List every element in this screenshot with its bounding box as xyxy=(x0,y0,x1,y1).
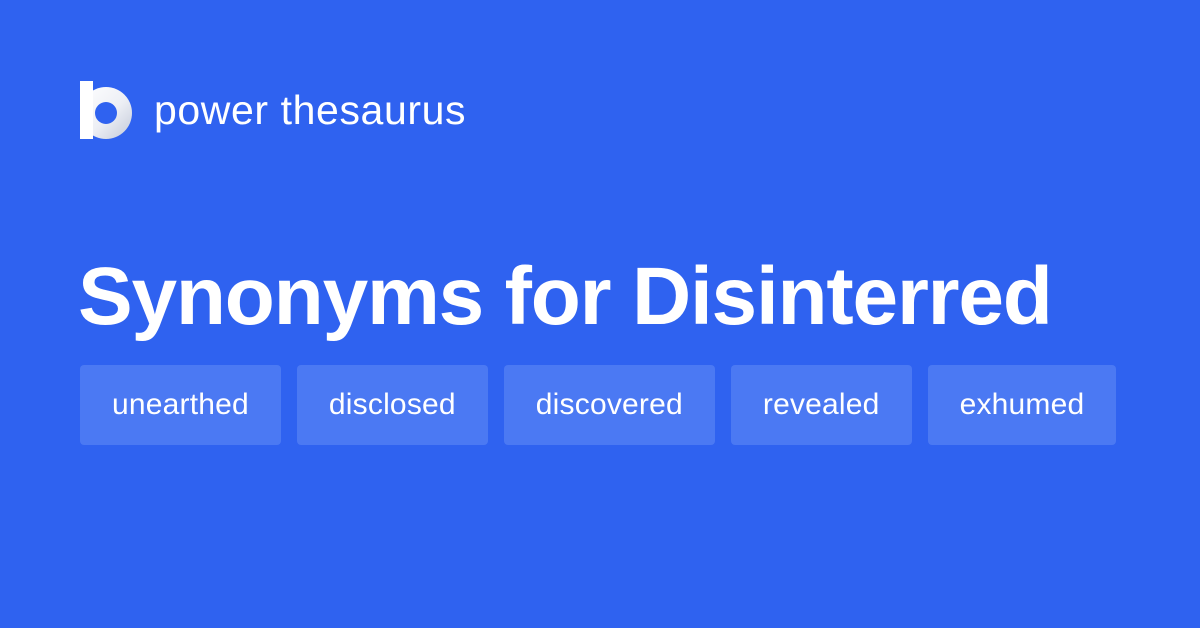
brand-logo[interactable]: power thesaurus xyxy=(80,80,466,140)
power-thesaurus-b-logo-icon xyxy=(80,81,132,139)
synonym-chip[interactable]: disclosed xyxy=(297,365,488,445)
synonym-chip[interactable]: unearthed xyxy=(80,365,281,445)
brand-name: power thesaurus xyxy=(154,90,466,131)
page-title: Synonyms for Disinterred xyxy=(78,251,1138,343)
share-card: power thesaurus Synonyms for Disinterred… xyxy=(0,0,1200,628)
synonym-chip-list: unearthed disclosed discovered revealed … xyxy=(80,365,1128,445)
synonym-chip[interactable]: exhumed xyxy=(928,365,1117,445)
synonym-chip[interactable]: discovered xyxy=(504,365,715,445)
synonym-chip[interactable]: revealed xyxy=(731,365,912,445)
